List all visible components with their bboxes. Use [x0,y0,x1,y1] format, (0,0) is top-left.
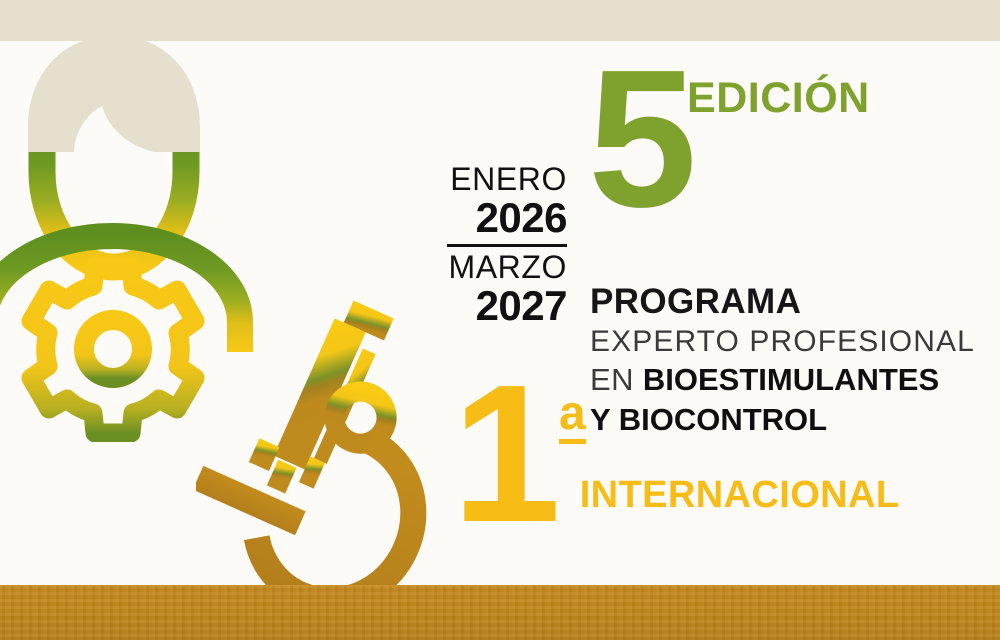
program-subtitle: EXPERTO PROFESIONAL [590,323,975,360]
edition-number: 5 [588,63,691,216]
program-word: PROGRAMA [590,282,975,323]
international-number: 1 [452,378,557,531]
edition-heading: 5 EDICIÓN [588,63,870,216]
international-label: INTERNACIONAL [580,474,900,517]
start-year: 2026 [447,197,567,240]
edition-label: EDICIÓN [687,77,870,120]
poster-canvas: 5 EDICIÓN ENERO 2026 MARZO 2027 PROGRAMA… [0,0,1000,640]
international-number-group: 1 a [452,378,586,531]
bottom-band [0,585,1000,640]
end-year: 2027 [447,285,567,328]
date-separator-rule [447,244,567,247]
start-month: ENERO [447,163,567,197]
person-gear-icon [0,22,272,442]
top-band [0,0,1000,41]
date-range-block: ENERO 2026 MARZO 2027 [447,163,567,327]
international-heading: 1 a INTERNACIONAL [452,378,899,531]
international-ordinal-suffix: a [559,390,586,444]
end-month: MARZO [447,251,567,285]
microscope-icon [196,296,456,596]
